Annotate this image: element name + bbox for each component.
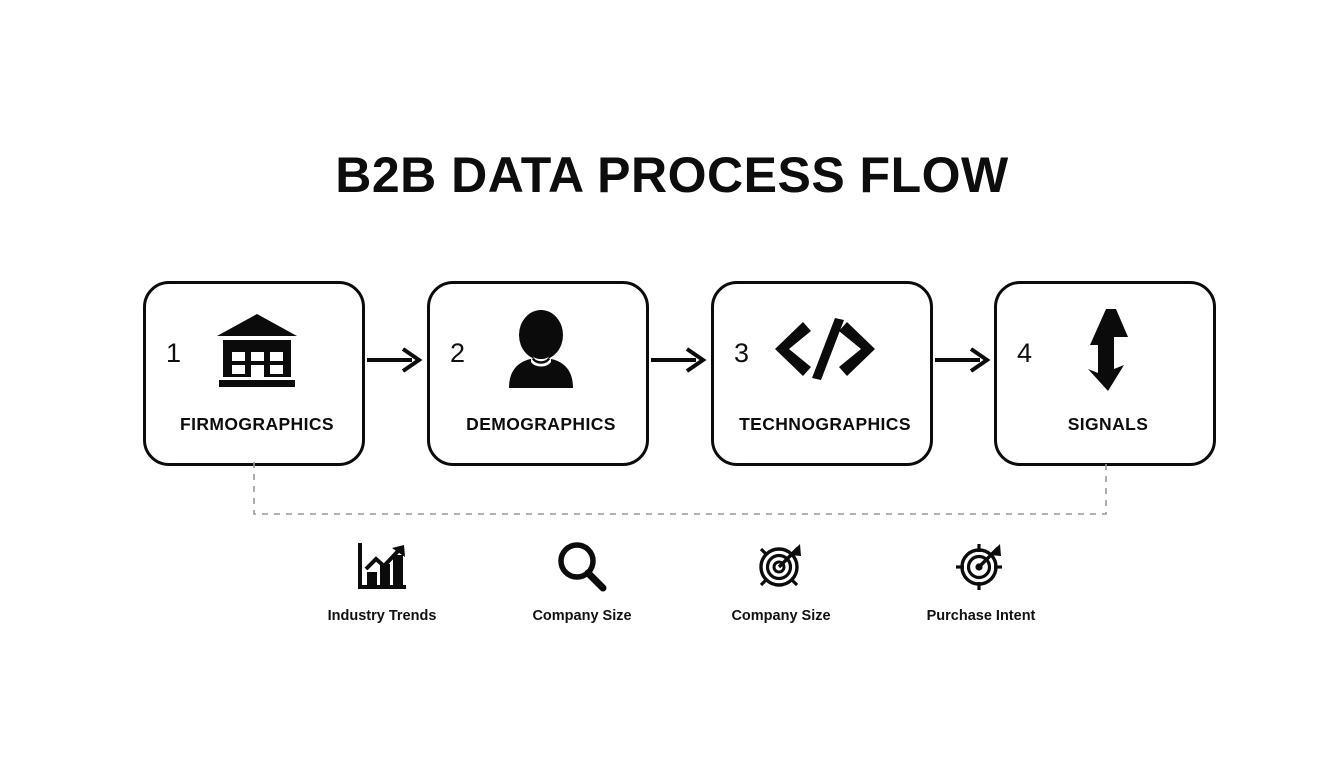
step-card-firmographics[interactable]: 1 FIRMOGRAPHICS — [143, 281, 365, 466]
attribute-item-company-size[interactable]: Company Size — [482, 538, 682, 624]
attribute-label: Company Size — [482, 608, 682, 624]
process-steps-row: 1 FIRMOGRAPHICS 2 — [143, 281, 1216, 468]
arrow-right-icon — [651, 347, 709, 373]
target-crosshair-icon — [881, 538, 1081, 594]
step-label: SIGNALS — [997, 414, 1219, 435]
slide-canvas: B2B DATA PROCESS FLOW 1 FIRM — [0, 0, 1344, 768]
attribute-item-company-size-target[interactable]: Company Size — [681, 538, 881, 624]
step-card-signals[interactable]: 4 SIGNALS — [994, 281, 1216, 466]
arrow-right-icon — [935, 347, 993, 373]
lightning-bolt-icon — [997, 306, 1219, 392]
step-card-demographics[interactable]: 2 DEMOGRAPHICS — [427, 281, 649, 466]
attribute-item-industry-trends[interactable]: Industry Trends — [282, 538, 482, 624]
step-label: DEMOGRAPHICS — [430, 414, 652, 435]
attribute-label: Purchase Intent — [881, 608, 1081, 624]
attribute-item-purchase-intent[interactable]: Purchase Intent — [881, 538, 1081, 624]
person-user-icon — [430, 306, 652, 392]
step-label: FIRMOGRAPHICS — [146, 414, 368, 435]
attribute-label: Industry Trends — [282, 608, 482, 624]
arrow-right-icon — [367, 347, 425, 373]
code-brackets-icon — [714, 306, 936, 392]
magnifier-search-icon — [482, 538, 682, 594]
bank-building-icon — [146, 306, 368, 392]
bar-chart-growth-icon — [282, 538, 482, 594]
dashed-bracket-connector — [240, 462, 1120, 532]
step-card-technographics[interactable]: 3 TECHNOGRAPHICS — [711, 281, 933, 466]
attributes-row: Industry Trends Company Size — [282, 538, 1082, 638]
page-title: B2B DATA PROCESS FLOW — [0, 146, 1344, 204]
attribute-label: Company Size — [681, 608, 881, 624]
target-dartboard-icon — [681, 538, 881, 594]
step-label: TECHNOGRAPHICS — [714, 414, 936, 435]
